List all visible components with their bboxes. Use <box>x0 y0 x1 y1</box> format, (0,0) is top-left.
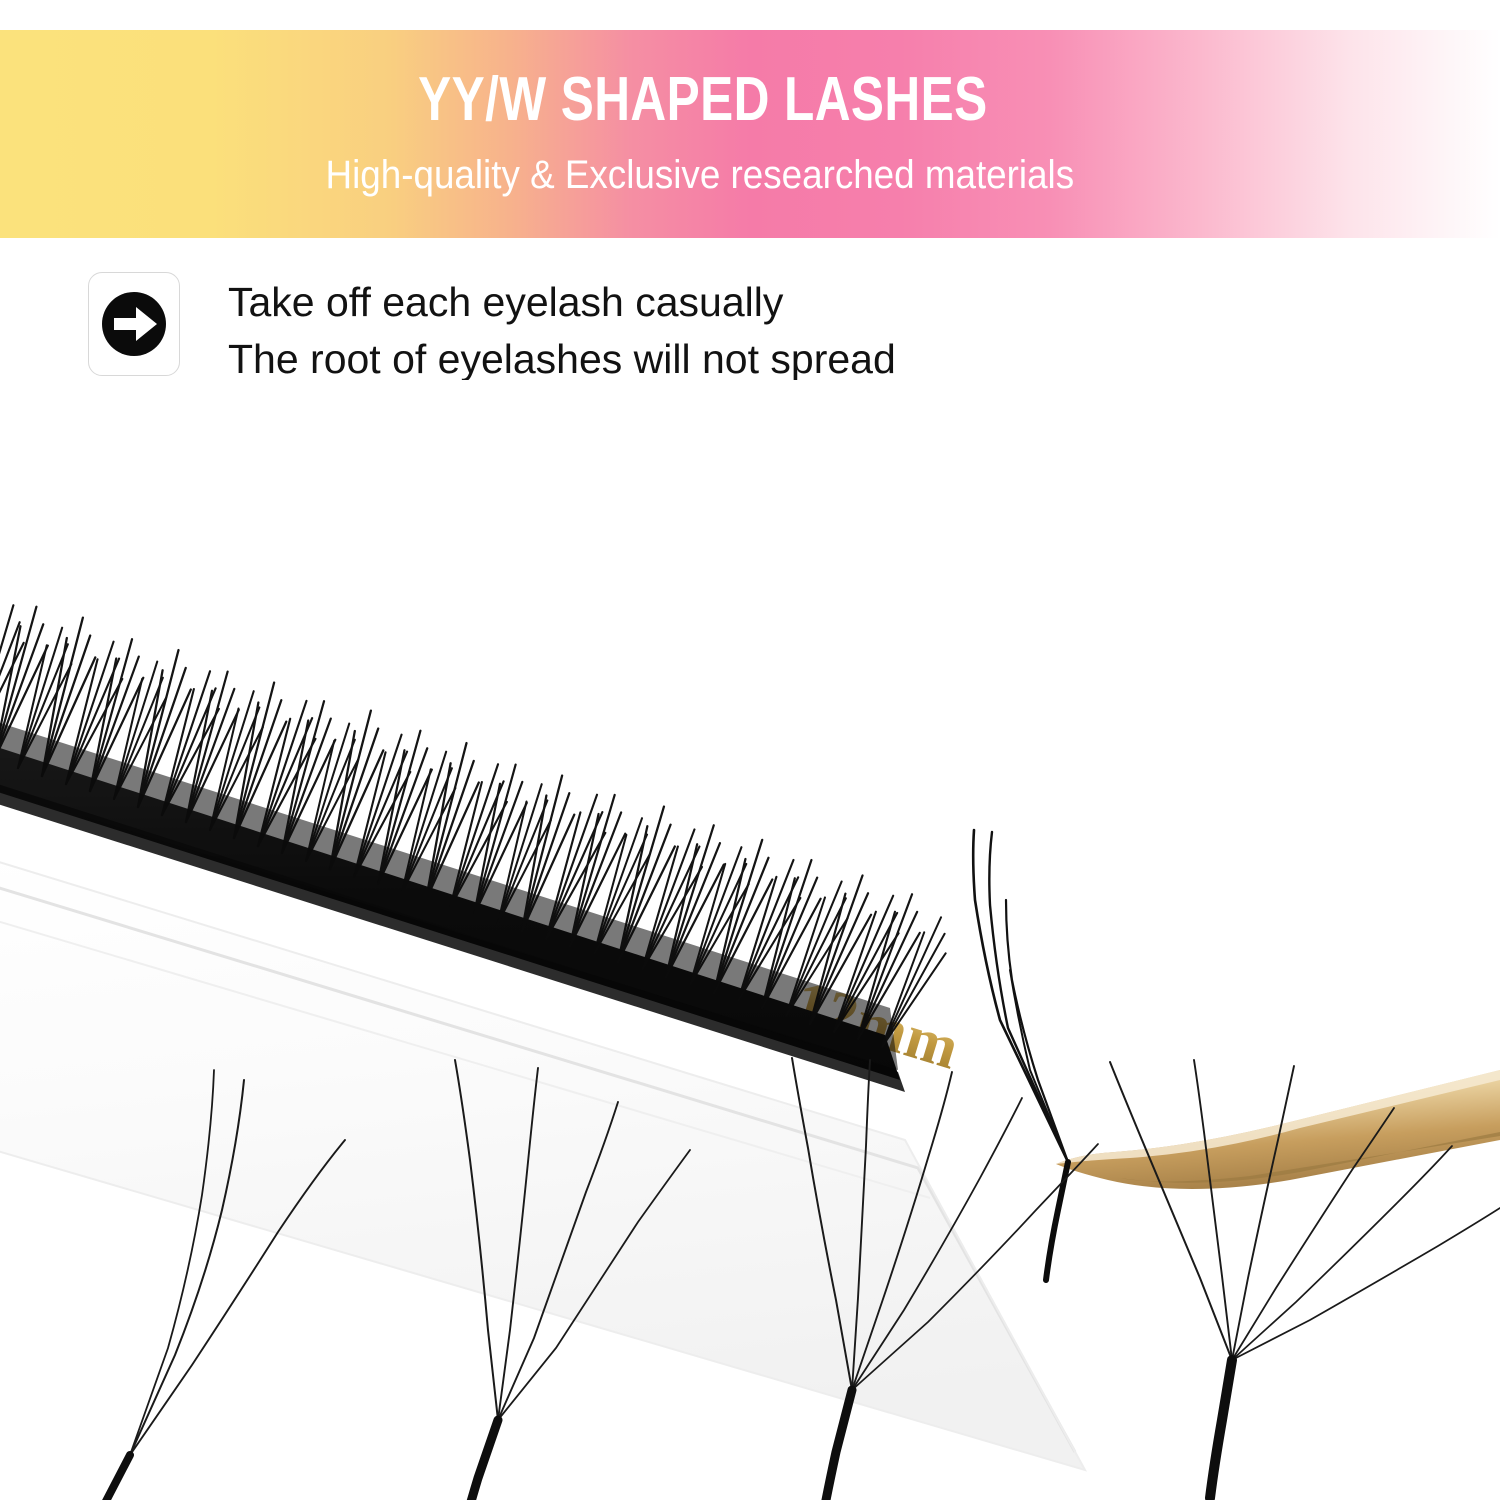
product-infographic: YY/W SHAPED LASHES High-quality & Exclus… <box>0 0 1500 1500</box>
header-banner: YY/W SHAPED LASHES High-quality & Exclus… <box>0 30 1500 238</box>
instruction-line-2: The root of eyelashes will not spread <box>228 331 896 388</box>
product-photo: 12mm <box>0 380 1500 1500</box>
header-banner-content: YY/W SHAPED LASHES High-quality & Exclus… <box>0 30 1500 238</box>
tweezer-tip <box>1056 1070 1500 1189</box>
instruction-badge <box>88 272 180 376</box>
instruction-text-group: Take off each eyelash casually The root … <box>228 272 896 387</box>
arrow-right-circle-icon <box>100 290 168 358</box>
page-subtitle: High-quality & Exclusive researched mate… <box>326 155 1075 195</box>
instruction-block: Take off each eyelash casually The root … <box>88 272 896 387</box>
page-title: YY/W SHAPED LASHES <box>418 69 987 131</box>
instruction-line-1: Take off each eyelash casually <box>228 274 896 331</box>
held-lash-fan <box>973 830 1072 1280</box>
